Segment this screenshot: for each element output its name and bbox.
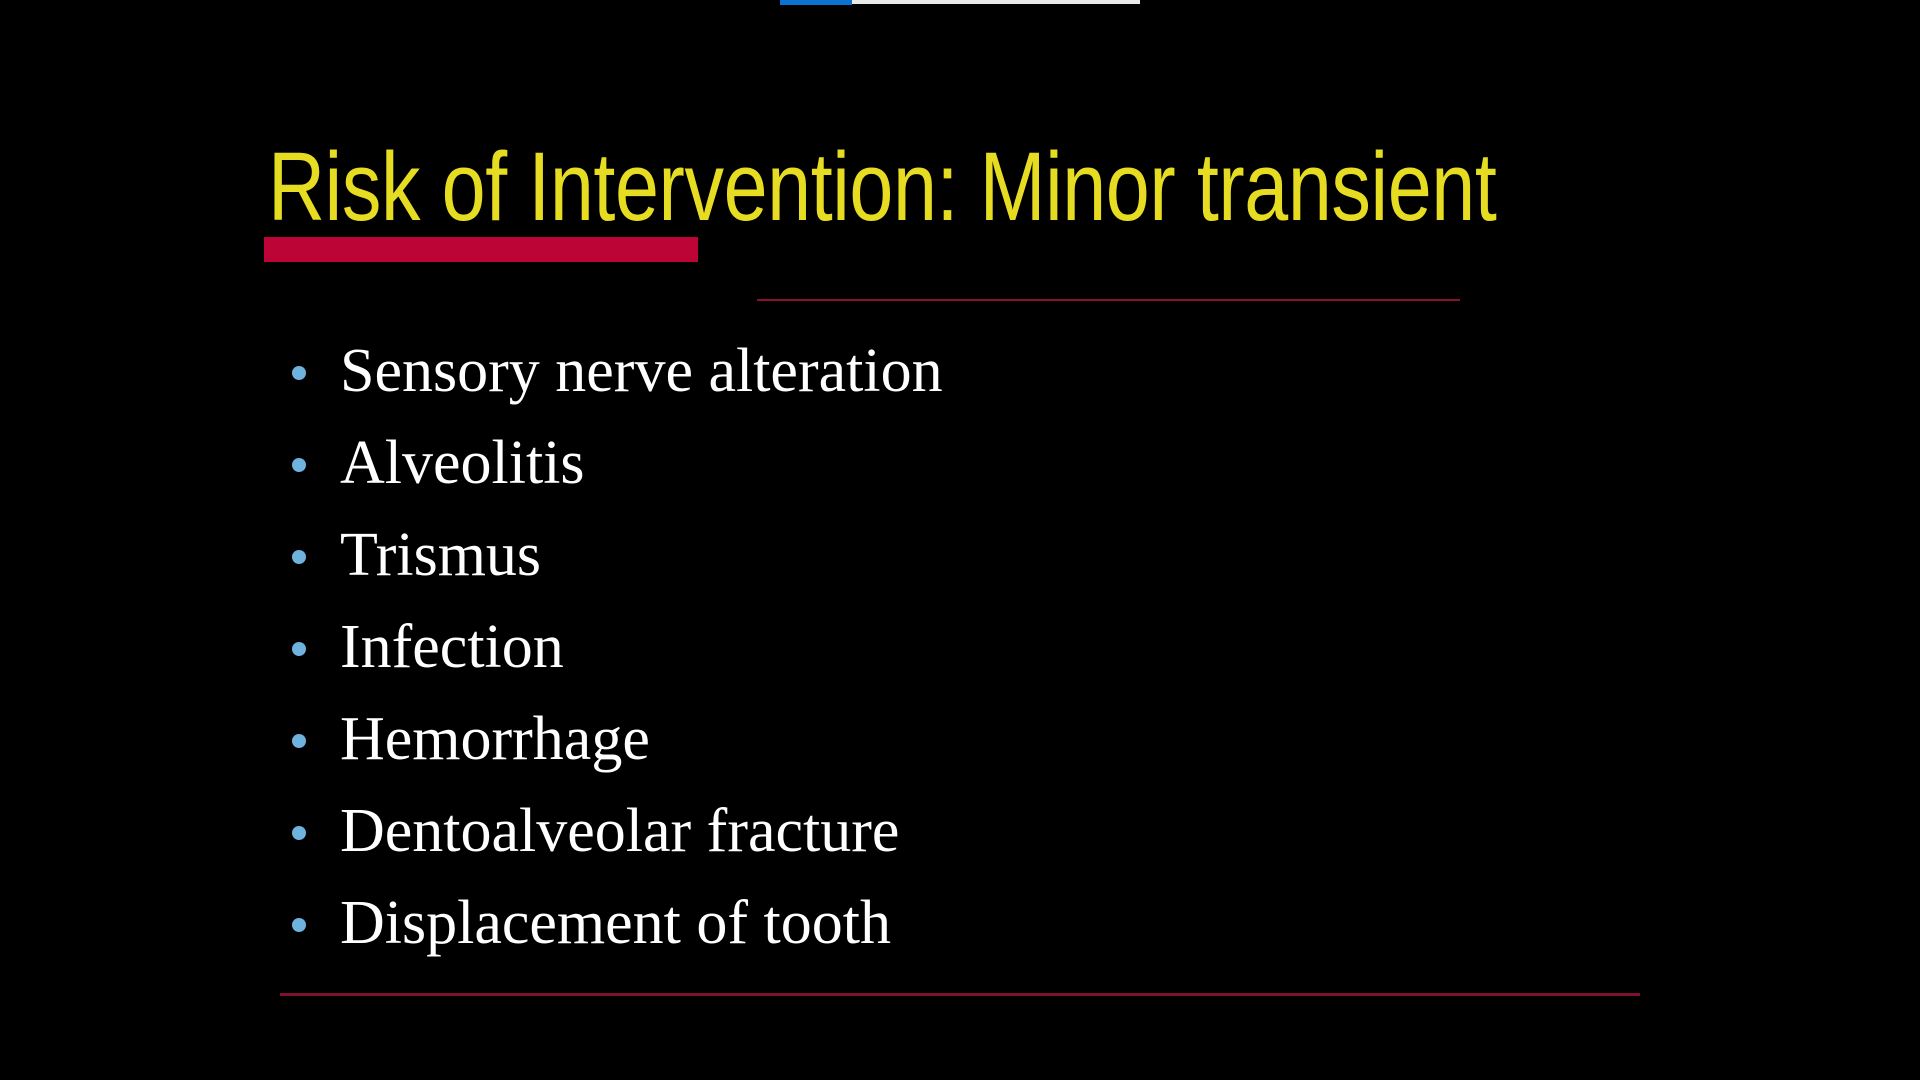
top-white-bar	[852, 0, 1140, 4]
top-blue-bar	[780, 0, 852, 5]
list-item: Sensory nerve alteration	[278, 325, 1678, 417]
list-item: Dentoalveolar fracture	[278, 785, 1678, 877]
list-item-label: Dentoalveolar fracture	[340, 785, 899, 877]
list-item-label: Infection	[340, 601, 564, 693]
list-item-label: Sensory nerve alteration	[340, 325, 943, 417]
slide-title: Risk of Intervention: Minor transient	[268, 133, 1409, 243]
presentation-slide: Risk of Intervention: Minor transient Se…	[0, 0, 1920, 1080]
list-item: Displacement of tooth	[278, 877, 1678, 969]
list-item: Trismus	[278, 509, 1678, 601]
bullet-dot-icon	[292, 550, 306, 564]
bullet-dot-icon	[292, 918, 306, 932]
list-item-label: Hemorrhage	[340, 693, 650, 785]
title-accent-bar	[264, 237, 698, 262]
list-item-label: Displacement of tooth	[340, 877, 891, 969]
list-item-label: Trismus	[340, 509, 541, 601]
bullet-dot-icon	[292, 826, 306, 840]
list-item: Alveolitis	[278, 417, 1678, 509]
bullet-dot-icon	[292, 642, 306, 656]
bullet-dot-icon	[292, 734, 306, 748]
bullet-list: Sensory nerve alterationAlveolitisTrismu…	[278, 325, 1678, 969]
bottom-rule	[280, 993, 1640, 996]
list-item: Infection	[278, 601, 1678, 693]
bullet-dot-icon	[292, 366, 306, 380]
list-item-label: Alveolitis	[340, 417, 585, 509]
top-decoration-strip	[0, 0, 1920, 5]
bullet-dot-icon	[292, 458, 306, 472]
list-item: Hemorrhage	[278, 693, 1678, 785]
title-side-rule	[757, 299, 1460, 301]
